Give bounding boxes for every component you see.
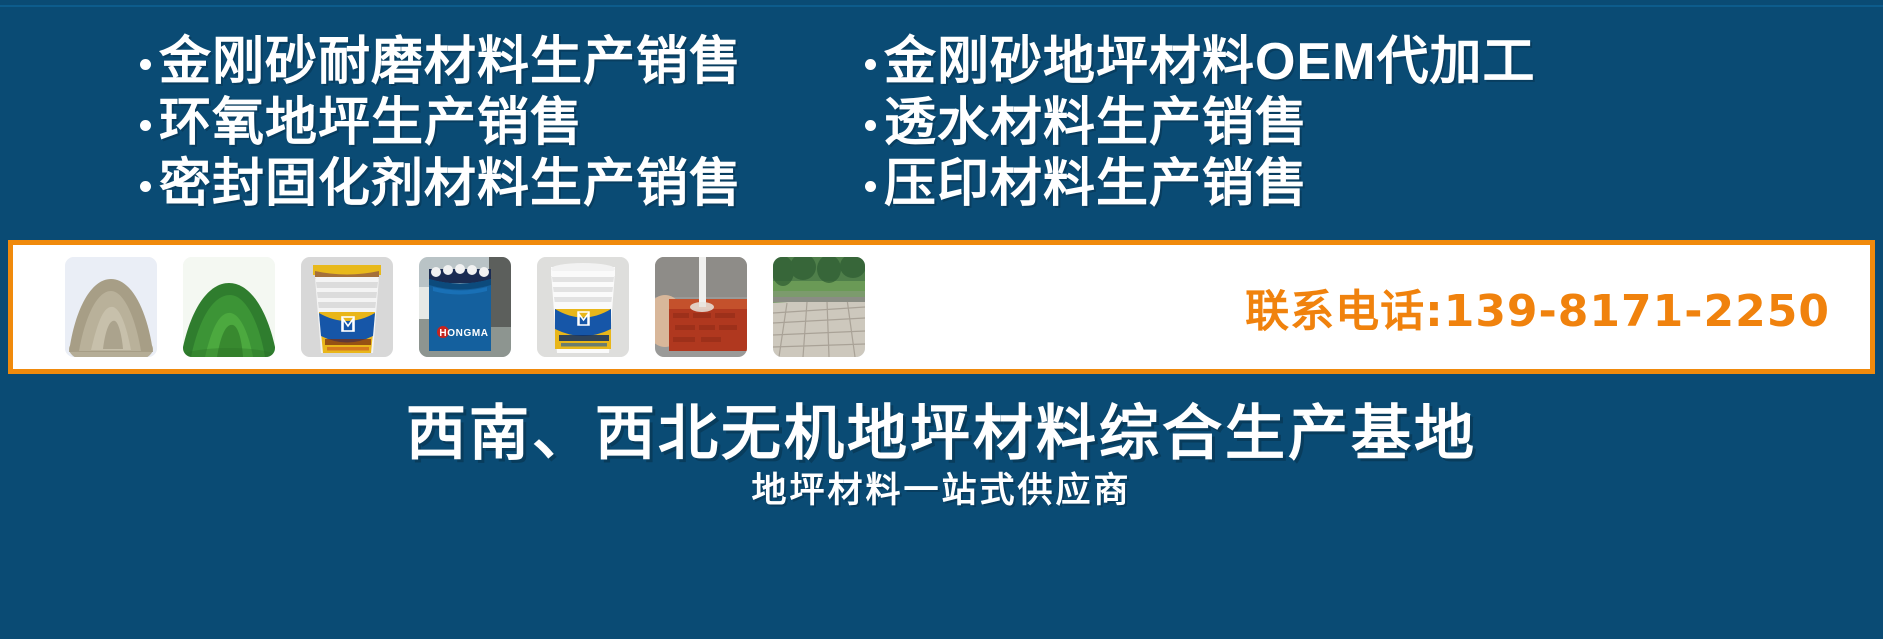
red-stamped-concrete-photo	[655, 257, 747, 357]
bullet-icon	[865, 120, 876, 131]
bullet-icon	[140, 120, 151, 131]
green-powder-pile-photo	[183, 257, 275, 357]
grey-powder-pile-photo	[65, 257, 157, 357]
product-thumb-grey-powder	[65, 257, 157, 357]
feature-item: 密封固化剂材料生产销售	[140, 154, 865, 215]
feature-item: 金刚砂耐磨材料生产销售	[140, 32, 865, 93]
feature-item: 环氧地坪生产销售	[140, 93, 865, 154]
bullet-icon	[865, 59, 876, 70]
feature-lists: 金刚砂耐磨材料生产销售 环氧地坪生产销售 密封固化剂材料生产销售 金刚砂地坪材料…	[0, 32, 1883, 232]
top-divider	[0, 5, 1883, 7]
product-thumb-green-powder	[183, 257, 275, 357]
main-tagline: 西南、西北无机地坪材料综合生产基地	[0, 385, 1883, 472]
product-thumb-hongma-drum: HONGMA	[419, 257, 511, 357]
bullet-icon	[140, 181, 151, 192]
bullet-icon	[865, 181, 876, 192]
feature-item: 金刚砂地坪材料OEM代加工	[865, 32, 1535, 93]
product-thumb-sealer-bucket	[301, 257, 393, 357]
product-thumbnail-list: HONGMA	[13, 257, 865, 357]
feature-label: 密封固化剂材料生产销售	[159, 154, 742, 215]
contact-phone[interactable]: 联系电话:139-8171-2250	[1245, 275, 1870, 339]
white-yellow-bucket-photo	[301, 257, 393, 357]
feature-label: 透水材料生产销售	[884, 93, 1308, 154]
feature-label: 环氧地坪生产销售	[159, 93, 583, 154]
feature-label: 金刚砂耐磨材料生产销售	[159, 32, 742, 93]
sub-tagline: 地坪材料一站式供应商	[0, 462, 1883, 513]
feature-column-right: 金刚砂地坪材料OEM代加工 透水材料生产销售 压印材料生产销售	[865, 32, 1535, 232]
svg-text:HONGMA: HONGMA	[439, 328, 488, 339]
feature-item: 透水材料生产销售	[865, 93, 1535, 154]
feature-item: 压印材料生产销售	[865, 154, 1535, 215]
product-thumb-permeable-pavement	[773, 257, 865, 357]
blue-steel-drum-photo: HONGMA	[419, 257, 511, 357]
bullet-icon	[140, 59, 151, 70]
feature-column-left: 金刚砂耐磨材料生产销售 环氧地坪生产销售 密封固化剂材料生产销售	[140, 32, 865, 232]
feature-label: 压印材料生产销售	[884, 154, 1308, 215]
permeable-pavement-photo	[773, 257, 865, 357]
feature-label: 金刚砂地坪材料OEM代加工	[884, 32, 1535, 93]
product-thumb-stamped-concrete	[655, 257, 747, 357]
product-thumb-epoxy-bucket	[537, 257, 629, 357]
white-bucket-photo	[537, 257, 629, 357]
banner-root: 金刚砂耐磨材料生产销售 环氧地坪生产销售 密封固化剂材料生产销售 金刚砂地坪材料…	[0, 0, 1883, 639]
product-panel: HONGMA	[8, 240, 1875, 374]
